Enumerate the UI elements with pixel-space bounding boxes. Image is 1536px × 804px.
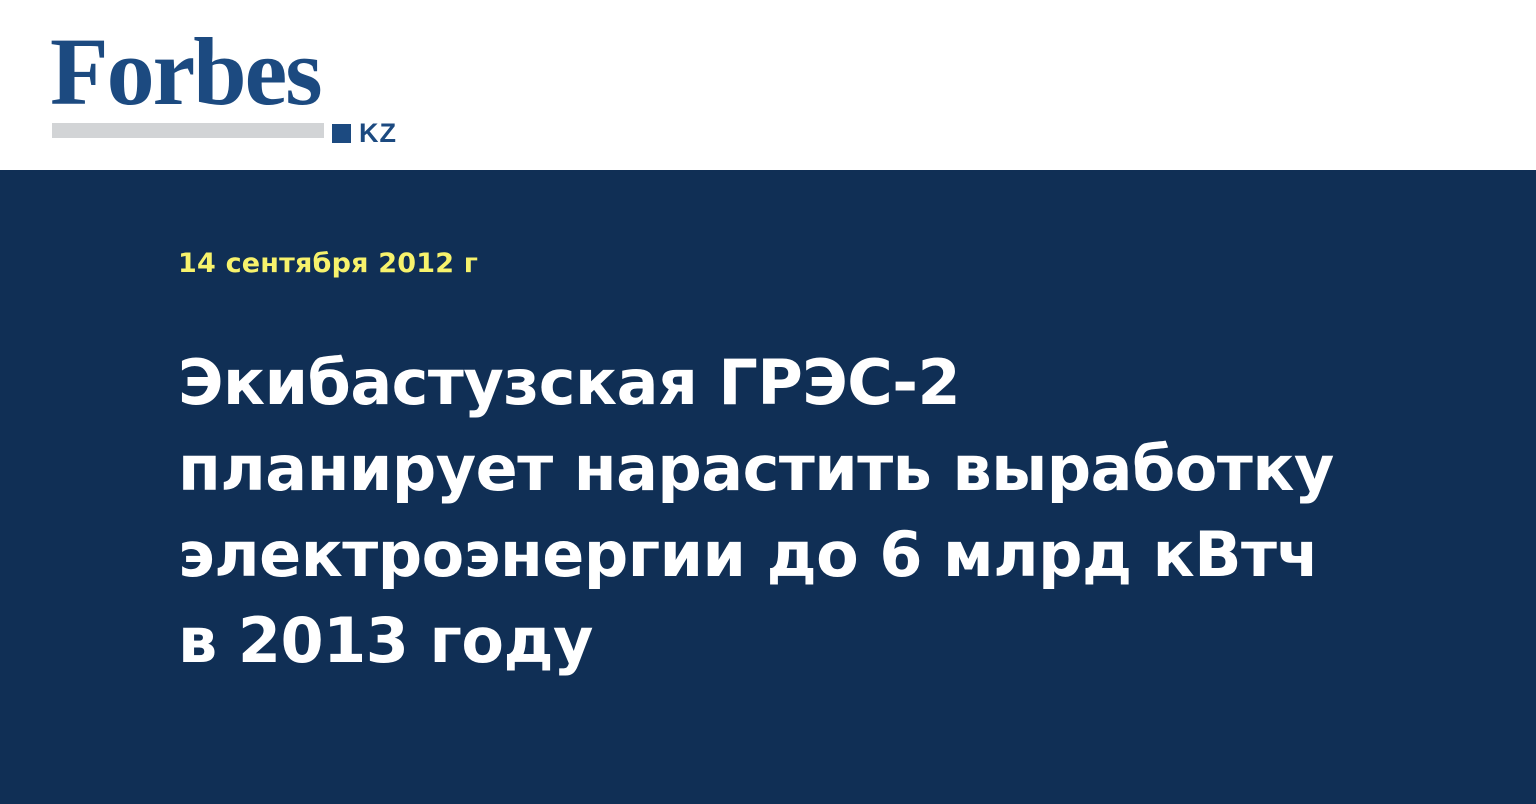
logo-underline-rule [52,123,324,138]
forbes-kz-logo[interactable]: Forbes KZ [50,22,410,147]
site-header: Forbes KZ [0,0,1536,170]
square-bullet-icon [332,124,351,143]
forbes-wordmark: Forbes [50,22,321,122]
logo-kz-label: KZ [359,120,397,147]
article-hero-page: Forbes KZ 14 сентября 2012 г Экибастузск… [0,0,1536,804]
logo-kz-group: KZ [332,120,397,147]
article-publish-date: 14 сентября 2012 г [178,248,478,280]
article-headline: Экибастузская ГРЭС-2 планирует нарастить… [178,340,1338,684]
article-hero-banner: 14 сентября 2012 г Экибастузская ГРЭС-2 … [0,170,1536,804]
